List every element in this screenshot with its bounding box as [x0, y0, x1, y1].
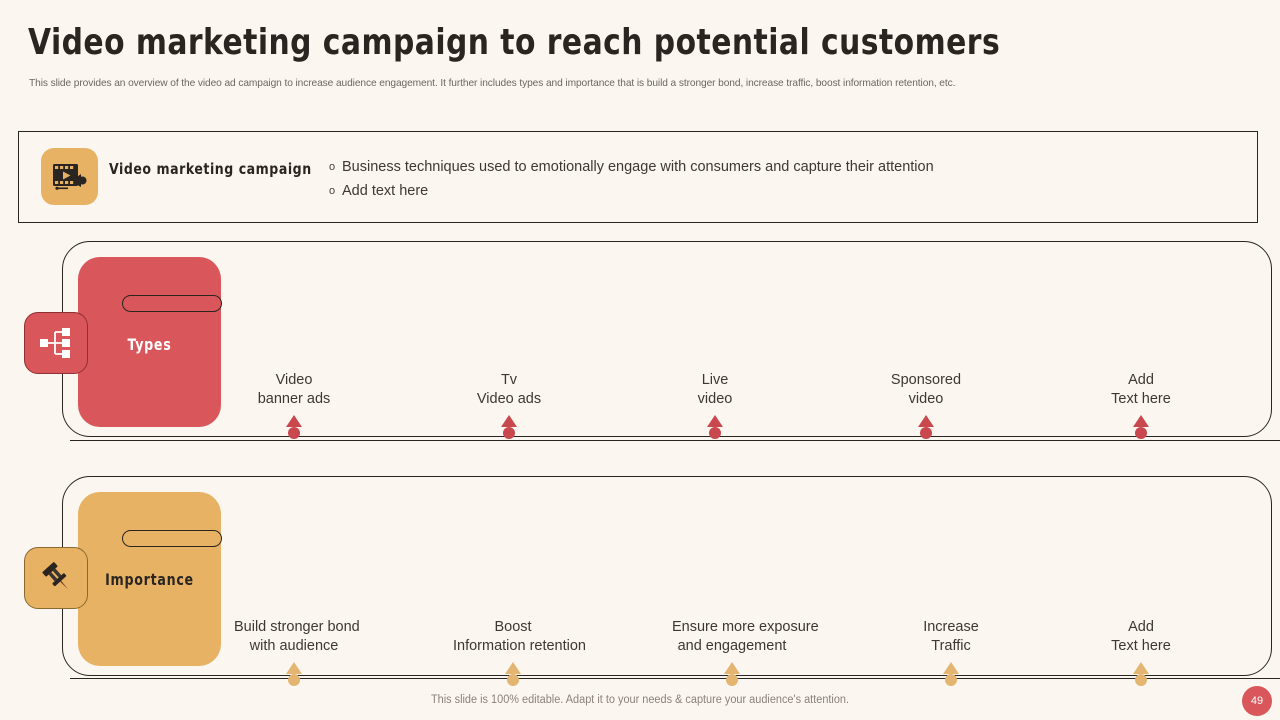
page-subtitle: This slide provides an overview of the v…: [29, 77, 955, 89]
timeline-label-line1: Add: [1081, 371, 1201, 390]
triangle-marker-icon: [918, 415, 934, 427]
timeline-marker[interactable]: [916, 415, 936, 441]
timeline-label-line2: with audience: [234, 637, 354, 656]
timeline-label-line1: Video: [234, 371, 354, 390]
definition-box: Video marketing campaign o Business tech…: [18, 131, 1258, 223]
triangle-marker-icon: [1133, 662, 1149, 674]
triangle-marker-icon: [286, 415, 302, 427]
timeline-label-line2: video: [866, 390, 986, 409]
bullet-marker-icon: o: [329, 158, 342, 177]
page-number-badge: 49: [1242, 686, 1272, 716]
timeline-item-types[interactable]: Add Text here: [1081, 371, 1201, 441]
timeline-label-line2: Information retention: [453, 637, 573, 656]
timeline-marker[interactable]: [1131, 662, 1151, 688]
slide-root: Video marketing campaign to reach potent…: [0, 0, 1280, 720]
timeline-label-line1: Increase: [891, 618, 1011, 637]
section-card-label-types: Types: [87, 335, 213, 354]
timeline-label-line2: Traffic: [891, 637, 1011, 656]
definition-box-label: Video marketing campaign: [109, 160, 312, 178]
section-importance: Importance Build stronger bond with audi…: [62, 476, 1280, 680]
timeline-label-line1: Ensure more exposure: [672, 618, 792, 637]
timeline-label-line1: Sponsored: [866, 371, 986, 390]
dot-marker-icon: [945, 674, 957, 686]
timeline-marker[interactable]: [284, 662, 304, 688]
triangle-marker-icon: [707, 415, 723, 427]
timeline-marker[interactable]: [722, 662, 742, 688]
bullet-text: Add text here: [342, 182, 428, 201]
timeline-item-types[interactable]: Video banner ads: [234, 371, 354, 441]
dot-marker-icon: [503, 427, 515, 439]
section-card-importance: Importance: [78, 492, 221, 666]
section-card-label-importance: Importance: [87, 570, 213, 589]
timeline-item-importance[interactable]: Ensure more exposure and engagement: [672, 618, 792, 688]
section-types: Types Video banner ads Tv Video ads: [62, 241, 1280, 441]
triangle-marker-icon: [1133, 415, 1149, 427]
timeline-item-importance[interactable]: Increase Traffic: [891, 618, 1011, 688]
pushpin-icon: [24, 547, 88, 609]
timeline-item-importance[interactable]: Boost Information retention: [453, 618, 573, 688]
list-item: o Add text here: [329, 182, 1229, 201]
dot-marker-icon: [288, 674, 300, 686]
dot-marker-icon: [920, 427, 932, 439]
dot-marker-icon: [1135, 427, 1147, 439]
timeline-label-line2: banner ads: [234, 390, 354, 409]
timeline-item-importance[interactable]: Build stronger bond with audience: [234, 618, 354, 688]
timeline-label-line2: video: [655, 390, 775, 409]
triangle-marker-icon: [943, 662, 959, 674]
video-megaphone-icon: [41, 148, 98, 205]
timeline-label-line1: Build stronger bond: [234, 618, 354, 637]
dot-marker-icon: [507, 674, 519, 686]
timeline-marker[interactable]: [1131, 415, 1151, 441]
card-pill-types: [122, 295, 222, 312]
timeline-label-line1: Add: [1081, 618, 1201, 637]
timeline-label-line2: Text here: [1081, 390, 1201, 409]
timeline-label-line1: Tv: [449, 371, 569, 390]
bullet-marker-icon: o: [329, 182, 342, 201]
timeline-marker[interactable]: [705, 415, 725, 441]
timeline-marker[interactable]: [941, 662, 961, 688]
list-item: o Business techniques used to emotionall…: [329, 158, 1229, 177]
timeline-item-types[interactable]: Sponsored video: [866, 371, 986, 441]
timeline-marker[interactable]: [284, 415, 304, 441]
timeline-marker[interactable]: [503, 662, 523, 688]
timeline-item-types[interactable]: Tv Video ads: [449, 371, 569, 441]
bullet-text: Business techniques used to emotionally …: [342, 158, 934, 177]
dot-marker-icon: [1135, 674, 1147, 686]
dot-marker-icon: [709, 427, 721, 439]
dot-marker-icon: [726, 674, 738, 686]
timeline-label-line1: Boost: [453, 618, 573, 637]
timeline-label-line1: Live: [655, 371, 775, 390]
timeline-label-line2: Text here: [1081, 637, 1201, 656]
sitemap-icon: [24, 312, 88, 374]
section-card-types: Types: [78, 257, 221, 427]
card-pill-importance: [122, 530, 222, 547]
triangle-marker-icon: [501, 415, 517, 427]
triangle-marker-icon: [505, 662, 521, 674]
definition-box-bullets: o Business techniques used to emotionall…: [329, 158, 1229, 206]
timeline-label-line2: and engagement: [672, 637, 792, 656]
triangle-marker-icon: [724, 662, 740, 674]
footer-note: This slide is 100% editable. Adapt it to…: [32, 694, 1248, 706]
timeline-marker[interactable]: [499, 415, 519, 441]
timeline-item-types[interactable]: Live video: [655, 371, 775, 441]
timeline-label-line2: Video ads: [449, 390, 569, 409]
dot-marker-icon: [288, 427, 300, 439]
triangle-marker-icon: [286, 662, 302, 674]
page-title: Video marketing campaign to reach potent…: [28, 22, 1000, 63]
timeline-item-importance[interactable]: Add Text here: [1081, 618, 1201, 688]
